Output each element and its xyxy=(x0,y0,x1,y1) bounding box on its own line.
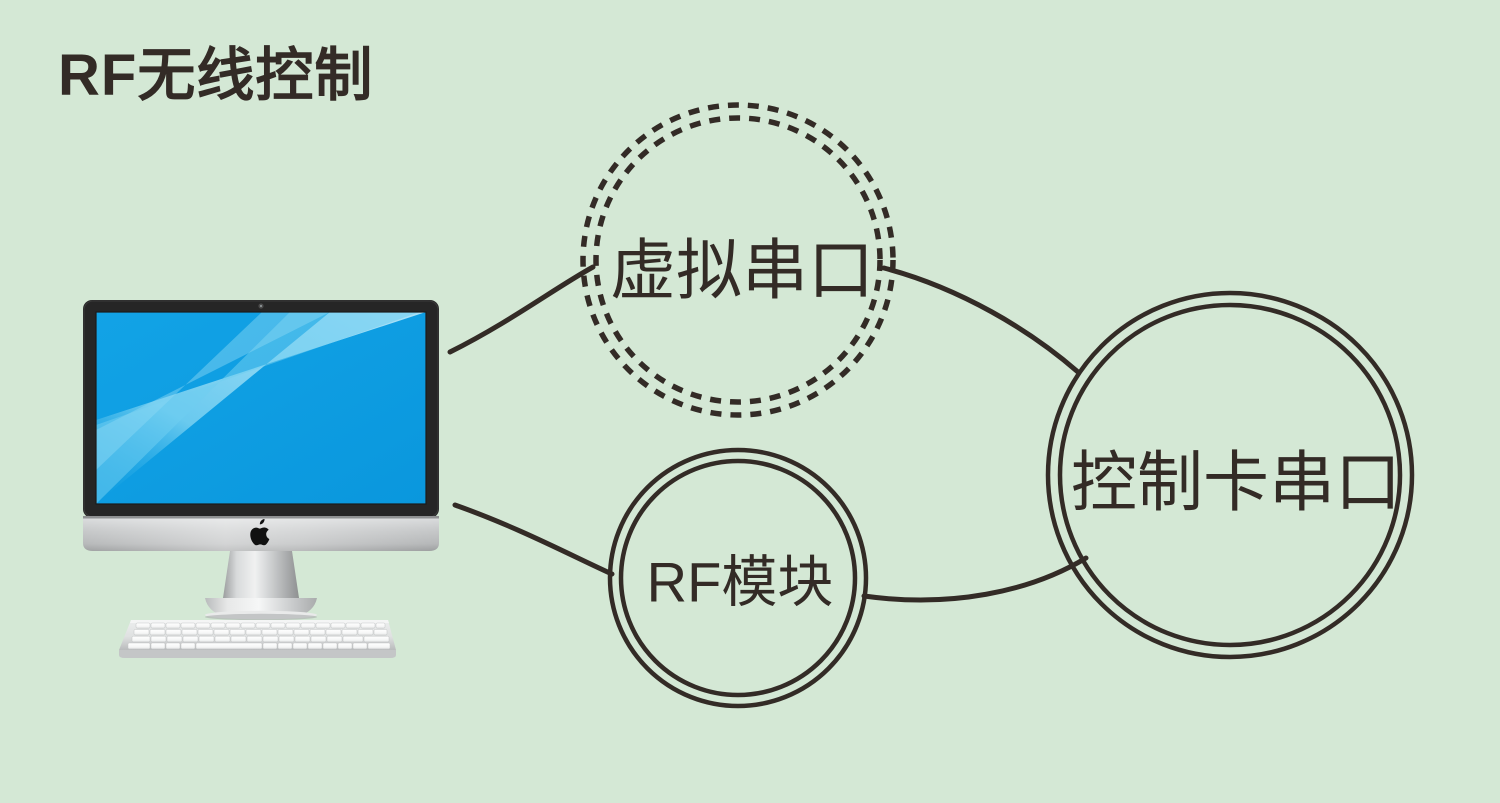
control-card-serial-port-label: 控制卡串口 xyxy=(1071,429,1401,525)
virtual-serial-port-label: 虚拟串口 xyxy=(610,217,874,313)
node-layer xyxy=(0,0,1500,803)
diagram-canvas: RF无线控制 xyxy=(0,0,1500,803)
rf-module-label: RF模块 xyxy=(647,538,834,619)
